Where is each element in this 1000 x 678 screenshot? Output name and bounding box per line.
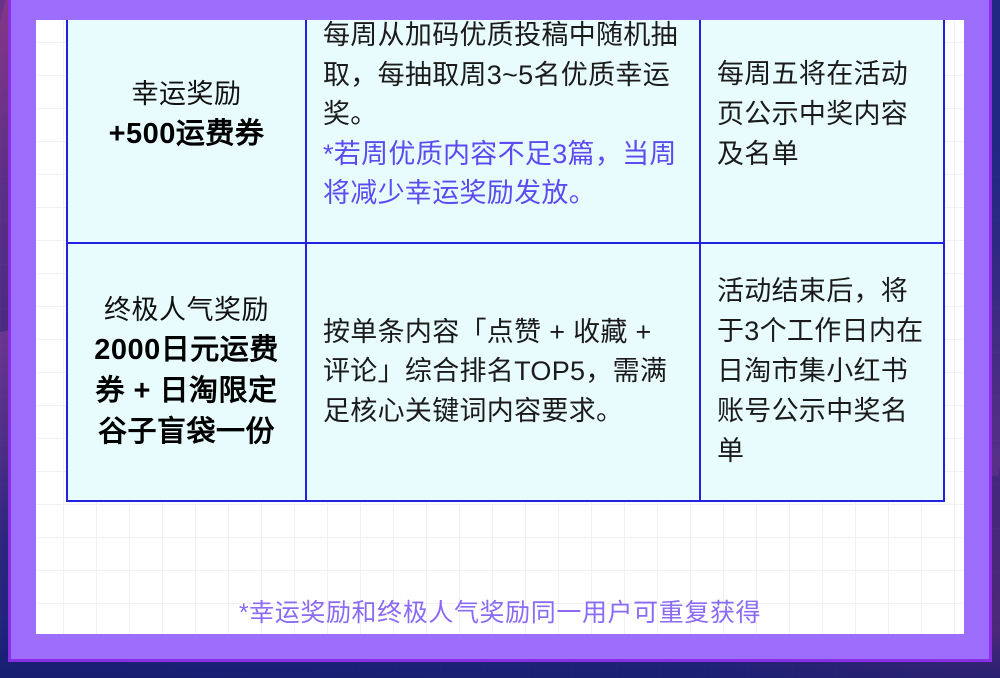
white-grid-card: 幸运奖励 +500运费券 每周从加码优质投稿中随机抽取，每抽取周3~5名优质幸运… bbox=[36, 20, 964, 634]
cell-announce-lucky: 每周五将在活动页公示中奖内容及名单 bbox=[700, 20, 944, 243]
rule-body-lucky: 每周从加码优质投稿中随机抽取，每抽取周3~5名优质幸运奖。 bbox=[323, 20, 683, 135]
cell-rule-ultimate: 按单条内容「点赞 + 收藏 + 评论」综合排名TOP5，需满足核心关键词内容要求… bbox=[306, 243, 700, 501]
reward-title-ultimate: 终极人气奖励 bbox=[84, 291, 289, 330]
reward-amount-ultimate: 2000日元运费券 + 日淘限定谷子盲袋一份 bbox=[84, 330, 289, 454]
cell-reward-lucky: 幸运奖励 +500运费券 bbox=[67, 20, 306, 243]
announce-ultimate: 活动结束后，将于3个工作日内在日淘市集小红书账号公示中奖名单 bbox=[717, 272, 927, 472]
purple-frame: 幸运奖励 +500运费券 每周从加码优质投稿中随机抽取，每抽取周3~5名优质幸运… bbox=[8, 0, 992, 662]
announce-lucky: 每周五将在活动页公示中奖内容及名单 bbox=[717, 55, 927, 175]
footer-note: *幸运奖励和终极人气奖励同一用户可重复获得 bbox=[36, 593, 964, 629]
table-row: 终极人气奖励 2000日元运费券 + 日淘限定谷子盲袋一份 按单条内容「点赞 +… bbox=[67, 243, 944, 501]
rule-body-ultimate: 按单条内容「点赞 + 收藏 + 评论」综合排名TOP5，需满足核心关键词内容要求… bbox=[323, 313, 683, 431]
reward-title-lucky: 幸运奖励 bbox=[84, 75, 289, 114]
reward-amount-lucky: +500运费券 bbox=[84, 114, 289, 155]
cell-rule-lucky: 每周从加码优质投稿中随机抽取，每抽取周3~5名优质幸运奖。 *若周优质内容不足3… bbox=[306, 20, 700, 243]
rule-note-lucky: *若周优质内容不足3篇，当周将减少幸运奖励发放。 bbox=[323, 135, 683, 214]
cell-reward-ultimate: 终极人气奖励 2000日元运费券 + 日淘限定谷子盲袋一份 bbox=[67, 243, 306, 501]
reward-rules-table: 幸运奖励 +500运费券 每周从加码优质投稿中随机抽取，每抽取周3~5名优质幸运… bbox=[66, 20, 945, 502]
cell-announce-ultimate: 活动结束后，将于3个工作日内在日淘市集小红书账号公示中奖名单 bbox=[700, 243, 944, 501]
table-row: 幸运奖励 +500运费券 每周从加码优质投稿中随机抽取，每抽取周3~5名优质幸运… bbox=[67, 20, 944, 243]
